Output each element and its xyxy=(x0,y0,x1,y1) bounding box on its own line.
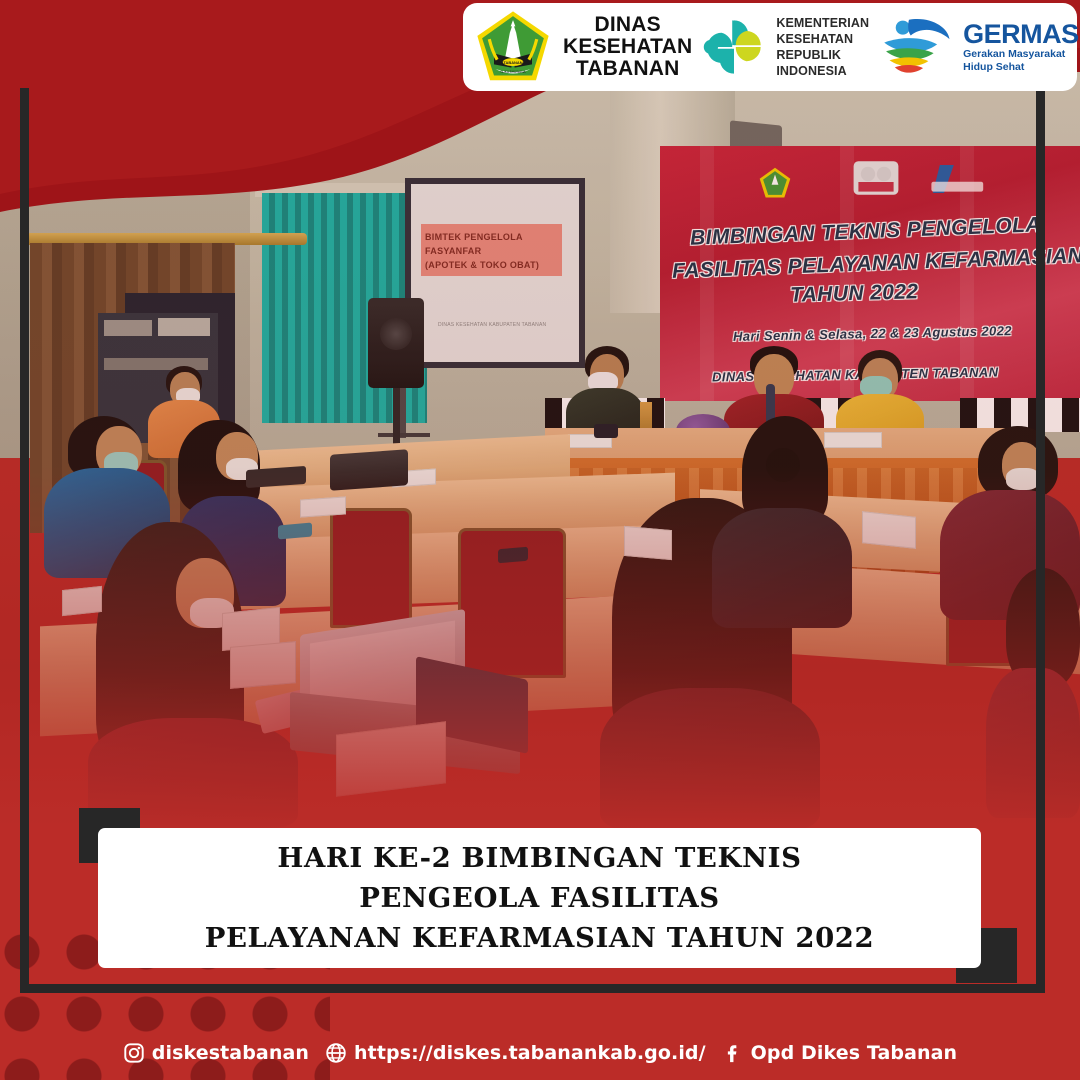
caption-line-2: PENGEOLA FASILITAS xyxy=(359,878,720,918)
globe-icon xyxy=(325,1042,347,1064)
germas-figure-icon xyxy=(879,14,953,80)
event-photo: BIMTEK PENGELOLA FASYANFAR (APOTEK & TOK… xyxy=(0,28,1080,828)
frame-right-border xyxy=(1036,88,1045,993)
caption-card: HARI KE-2 BIMBINGAN TEKNIS PENGEOLA FASI… xyxy=(98,828,981,968)
frame-left-border xyxy=(20,88,29,993)
germas-wordmark: GERMAS xyxy=(963,21,1079,48)
kemenkes-line-3: REPUBLIK xyxy=(776,47,869,63)
poster-canvas: BIMTEK PENGELOLA FASYANFAR (APOTEK & TOK… xyxy=(0,0,1080,1080)
instagram-icon xyxy=(123,1042,145,1064)
footer-instagram[interactable]: diskestabanan xyxy=(123,1042,309,1064)
kemenkes-line-4: INDONESIA xyxy=(776,63,869,79)
dinas-line-1: DINAS xyxy=(563,14,692,36)
svg-text:SUKA BHUWANA: SUKA BHUWANA xyxy=(500,70,526,74)
dinas-kesehatan-title: DINAS KESEHATAN TABANAN xyxy=(563,14,692,81)
caption-line-1: HARI KE-2 BIMBINGAN TEKNIS xyxy=(277,838,801,878)
footer-social-bar: diskestabanan https://diskes.tabanankab.… xyxy=(0,1026,1080,1080)
website-url: https://diskes.tabanankab.go.id/ xyxy=(354,1042,706,1064)
dinas-line-2: KESEHATAN xyxy=(563,36,692,58)
kemenkes-title: KEMENTERIAN KESEHATAN REPUBLIK INDONESIA xyxy=(776,15,869,79)
frame-bottom-border xyxy=(20,984,1045,993)
tabanan-crest-icon: TABANAN SUKA BHUWANA xyxy=(473,9,553,85)
kemenkes-line-1: KEMENTERIAN xyxy=(776,15,869,31)
facebook-page: Opd Dikes Tabanan xyxy=(751,1042,958,1064)
svg-text:TABANAN: TABANAN xyxy=(503,60,522,65)
photo-color-grade xyxy=(0,28,1080,828)
dinas-line-3: TABANAN xyxy=(563,58,692,80)
footer-facebook[interactable]: Opd Dikes Tabanan xyxy=(722,1042,958,1064)
germas-tagline-2: Hidup Sehat xyxy=(963,61,1079,73)
germas-tagline-1: Gerakan Masyarakat xyxy=(963,48,1079,60)
header-logo-bar: TABANAN SUKA BHUWANA DINAS KESEHATAN TAB… xyxy=(463,3,1077,91)
germas-title: GERMAS Gerakan Masyarakat Hidup Sehat xyxy=(963,21,1079,73)
instagram-handle: diskestabanan xyxy=(152,1042,309,1064)
caption-line-3: PELAYANAN KEFARMASIAN TAHUN 2022 xyxy=(205,918,875,958)
kemenkes-line-2: KESEHATAN xyxy=(776,31,869,47)
kemenkes-flower-icon xyxy=(702,15,766,79)
facebook-icon xyxy=(722,1042,744,1064)
footer-website[interactable]: https://diskes.tabanankab.go.id/ xyxy=(325,1042,706,1064)
